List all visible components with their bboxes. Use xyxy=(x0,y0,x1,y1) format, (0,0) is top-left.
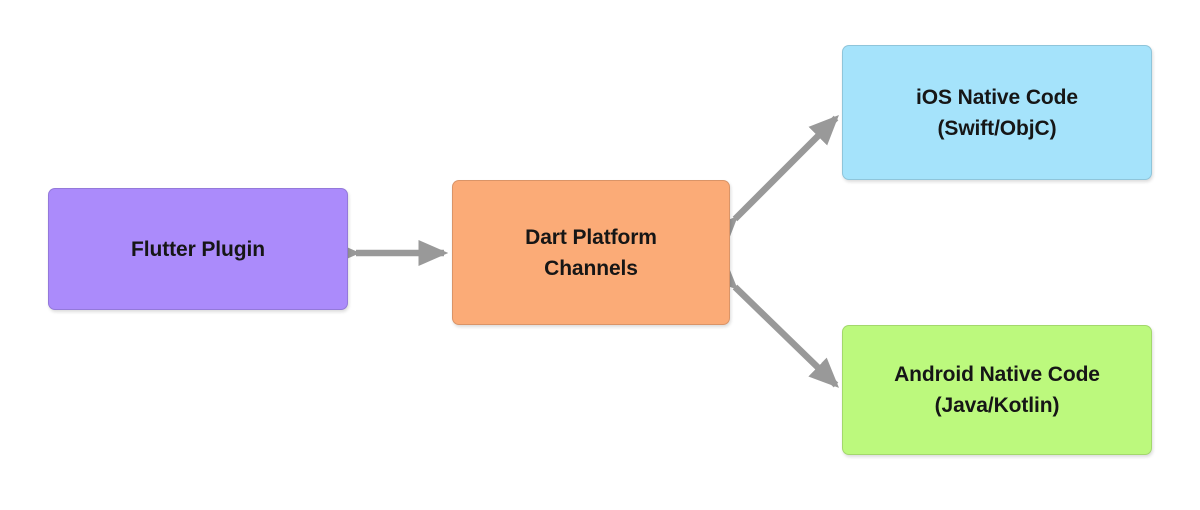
node-flutter-plugin-label: Flutter Plugin xyxy=(121,234,275,265)
edge-dart-platform-channels-to-android-native-code xyxy=(735,287,836,385)
node-dart-platform-channels-label: Dart Platform Channels xyxy=(515,222,667,284)
diagram-canvas: Flutter Plugin Dart Platform Channels iO… xyxy=(0,0,1200,510)
node-flutter-plugin[interactable]: Flutter Plugin xyxy=(48,188,348,310)
edge-dart-platform-channels-to-ios-native-code xyxy=(735,118,836,219)
node-dart-platform-channels[interactable]: Dart Platform Channels xyxy=(452,180,730,325)
node-android-native-code[interactable]: Android Native Code (Java/Kotlin) xyxy=(842,325,1152,455)
node-android-native-code-label: Android Native Code (Java/Kotlin) xyxy=(884,359,1110,421)
node-ios-native-code[interactable]: iOS Native Code (Swift/ObjC) xyxy=(842,45,1152,180)
node-ios-native-code-label: iOS Native Code (Swift/ObjC) xyxy=(906,82,1088,144)
